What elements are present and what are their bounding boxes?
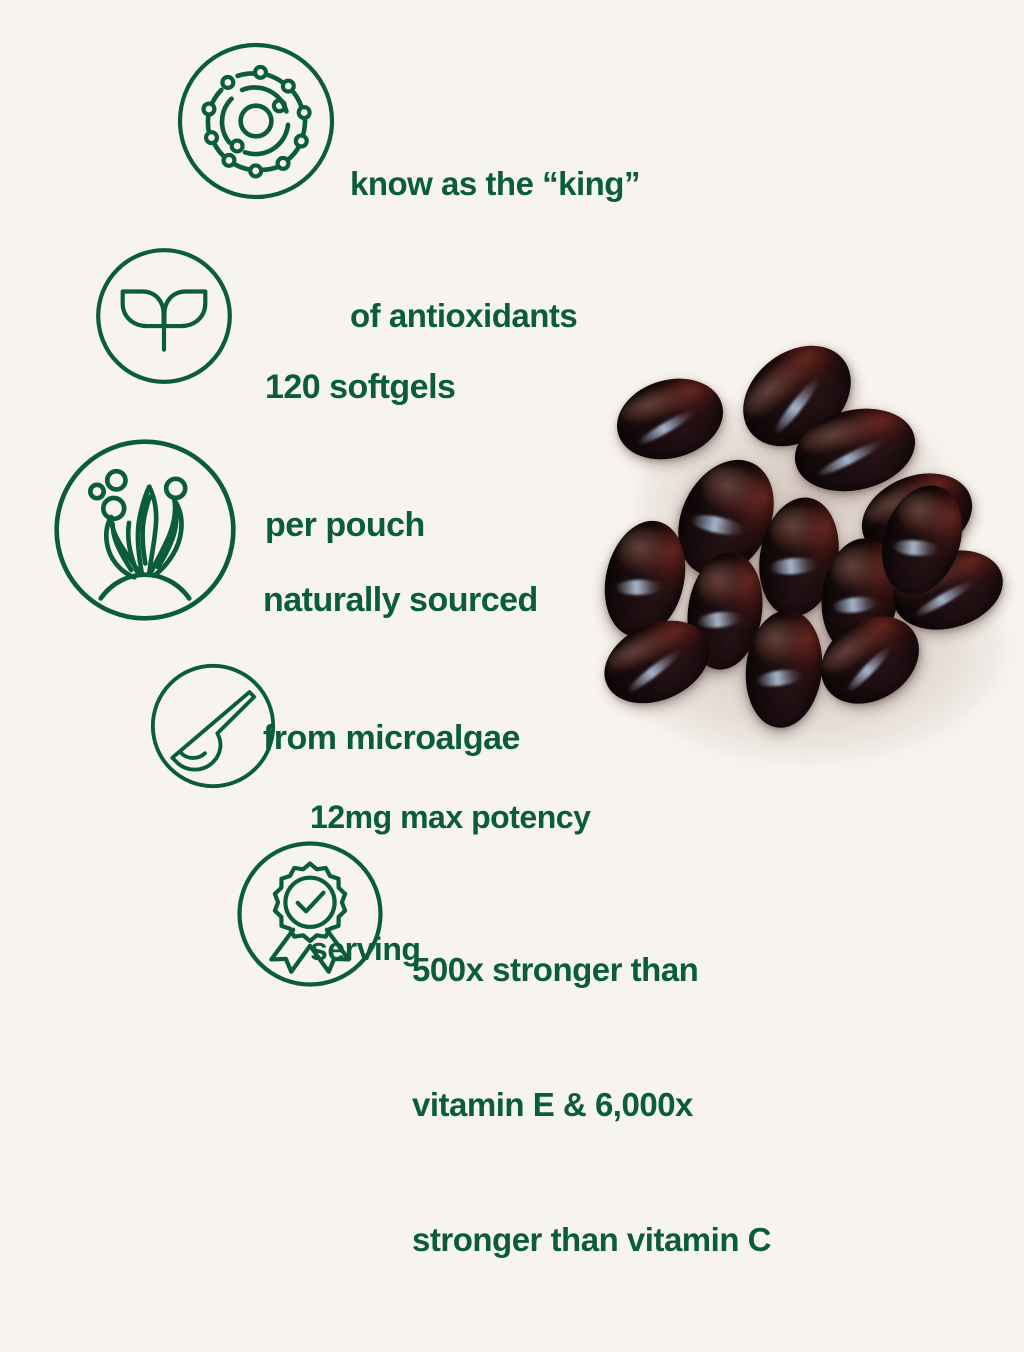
feature-5-line-2: vitamin E & 6,000x — [412, 1082, 882, 1127]
feature-5-text: 500x stronger than vitamin E & 6,000x st… — [412, 857, 882, 1352]
seaweed-algae-icon — [52, 437, 238, 623]
feature-4-line-1: 12mg max potency — [310, 795, 730, 839]
feature-1-line-1: know as the “king” — [350, 162, 770, 206]
feature-5-line-3: stronger than vitamin C — [412, 1217, 882, 1262]
sprout-leaf-icon — [94, 246, 234, 386]
award-ribbon-check-icon — [235, 839, 385, 989]
antioxidant-molecule-icon — [176, 41, 336, 201]
feature-5-line-1: 500x stronger than — [412, 947, 882, 992]
spoon-scoop-icon — [149, 662, 277, 790]
softgel-capsule-pile — [596, 352, 1024, 756]
infographic-canvas: know as the “king” of antioxidants 120 s… — [0, 0, 1024, 1024]
